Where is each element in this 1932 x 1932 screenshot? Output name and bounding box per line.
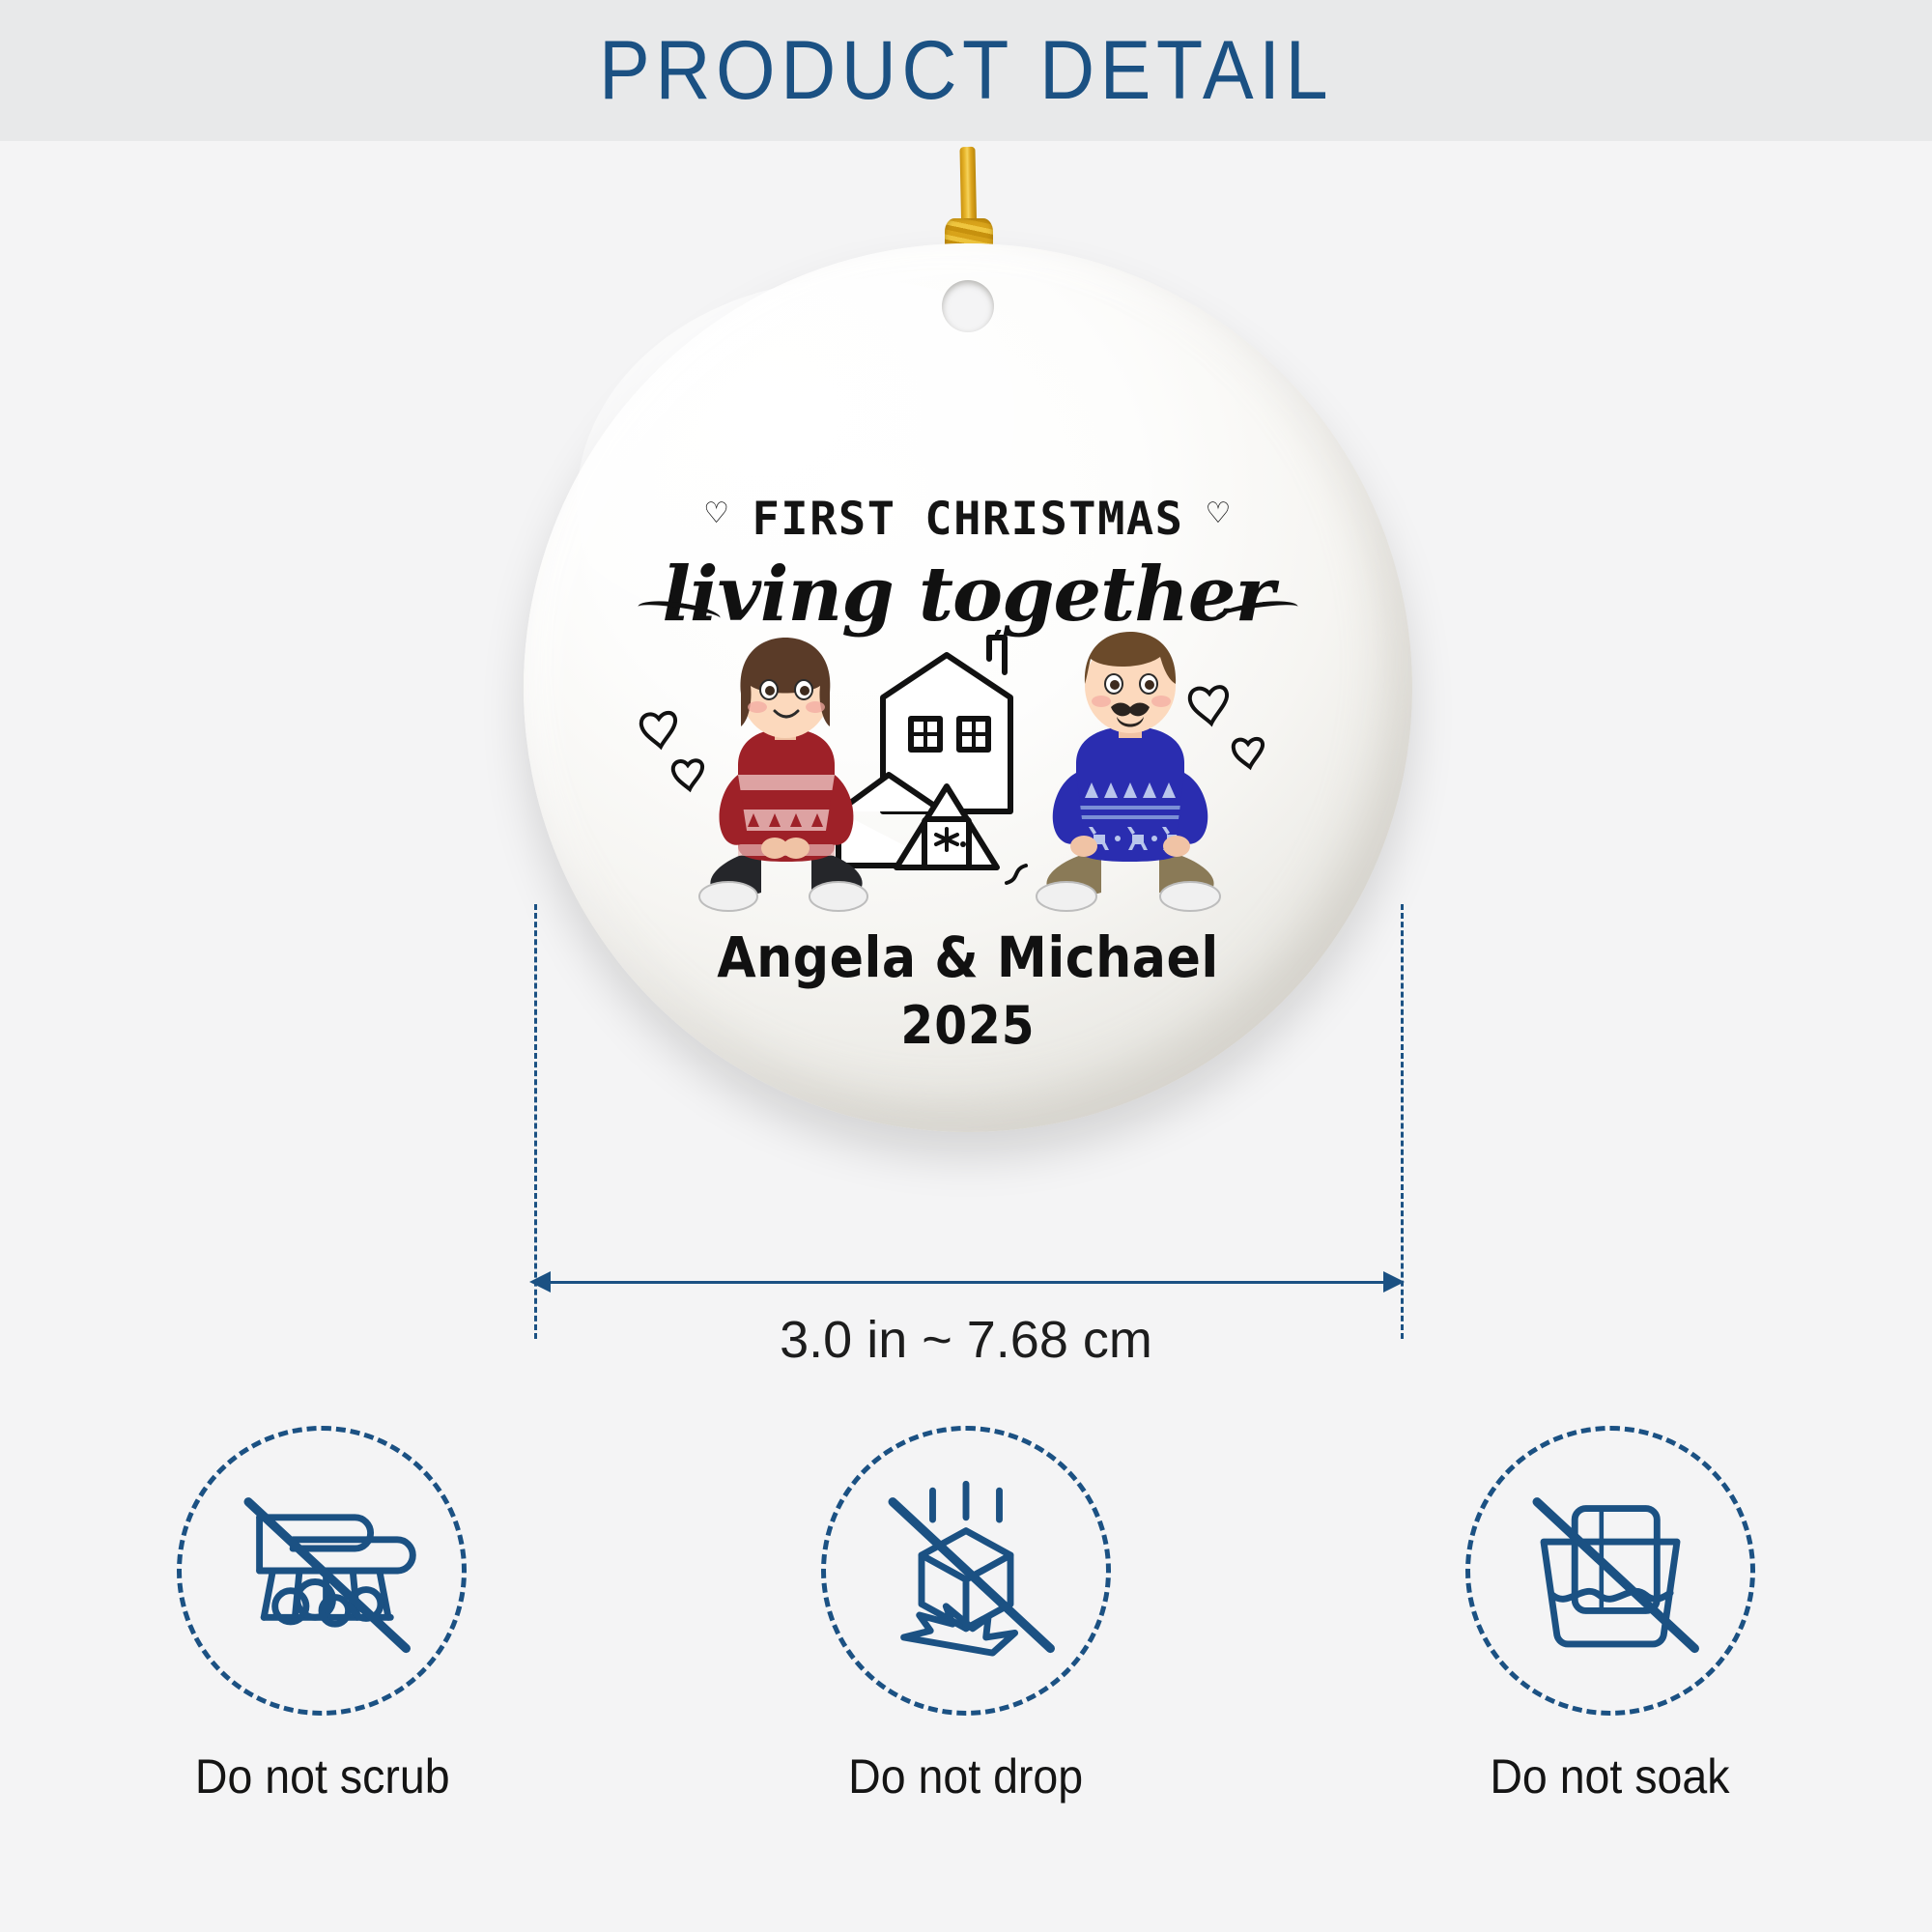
care-label-scrub: Do not scrub [195,1748,450,1804]
care-item-scrub: Do not scrub [71,1426,573,1804]
care-instructions: Do not scrub Do not drop [0,1426,1932,1870]
soak-basin-glyph [1499,1460,1721,1682]
couple-names: Angela & Michael [524,924,1412,990]
measure-label: 3.0 in ~ 7.68 cm [0,1310,1932,1370]
do-not-soak-icon [1465,1426,1755,1716]
do-not-drop-icon [821,1426,1111,1716]
measure-arrow-right-icon [1383,1271,1405,1293]
measure-line [537,1281,1401,1284]
care-label-drop: Do not drop [848,1748,1083,1804]
man-figure [1037,632,1220,911]
ornament-hanging-hole [942,280,994,332]
falling-box-glyph [855,1460,1077,1682]
page-header: PRODUCT DETAIL [0,0,1932,141]
scrub-brush-glyph [211,1460,433,1682]
care-item-soak: Do not soak [1359,1426,1861,1804]
heart-icon-right: ♡ [1205,497,1232,530]
woman-figure [699,638,867,911]
ornament-script-text: living together [524,551,1412,639]
illustration-svg [630,630,1306,929]
year-text: 2025 [524,995,1412,1056]
couple-and-house-illustration [630,630,1306,929]
heart-icon-left: ♡ [703,497,730,530]
care-label-soak: Do not soak [1491,1748,1730,1804]
measure-arrow-left-icon [529,1271,551,1293]
do-not-scrub-icon [177,1426,467,1716]
ornament-disc: ♡FIRST CHRISTMAS♡ living together [524,243,1412,1132]
ornament-headline-text: FIRST CHRISTMAS [753,493,1184,546]
care-item-drop: Do not drop [715,1426,1217,1804]
ornament-headline: ♡FIRST CHRISTMAS♡ [524,493,1412,546]
product-stage: ♡FIRST CHRISTMAS♡ living together [0,141,1932,1932]
page-title: PRODUCT DETAIL [599,23,1333,119]
